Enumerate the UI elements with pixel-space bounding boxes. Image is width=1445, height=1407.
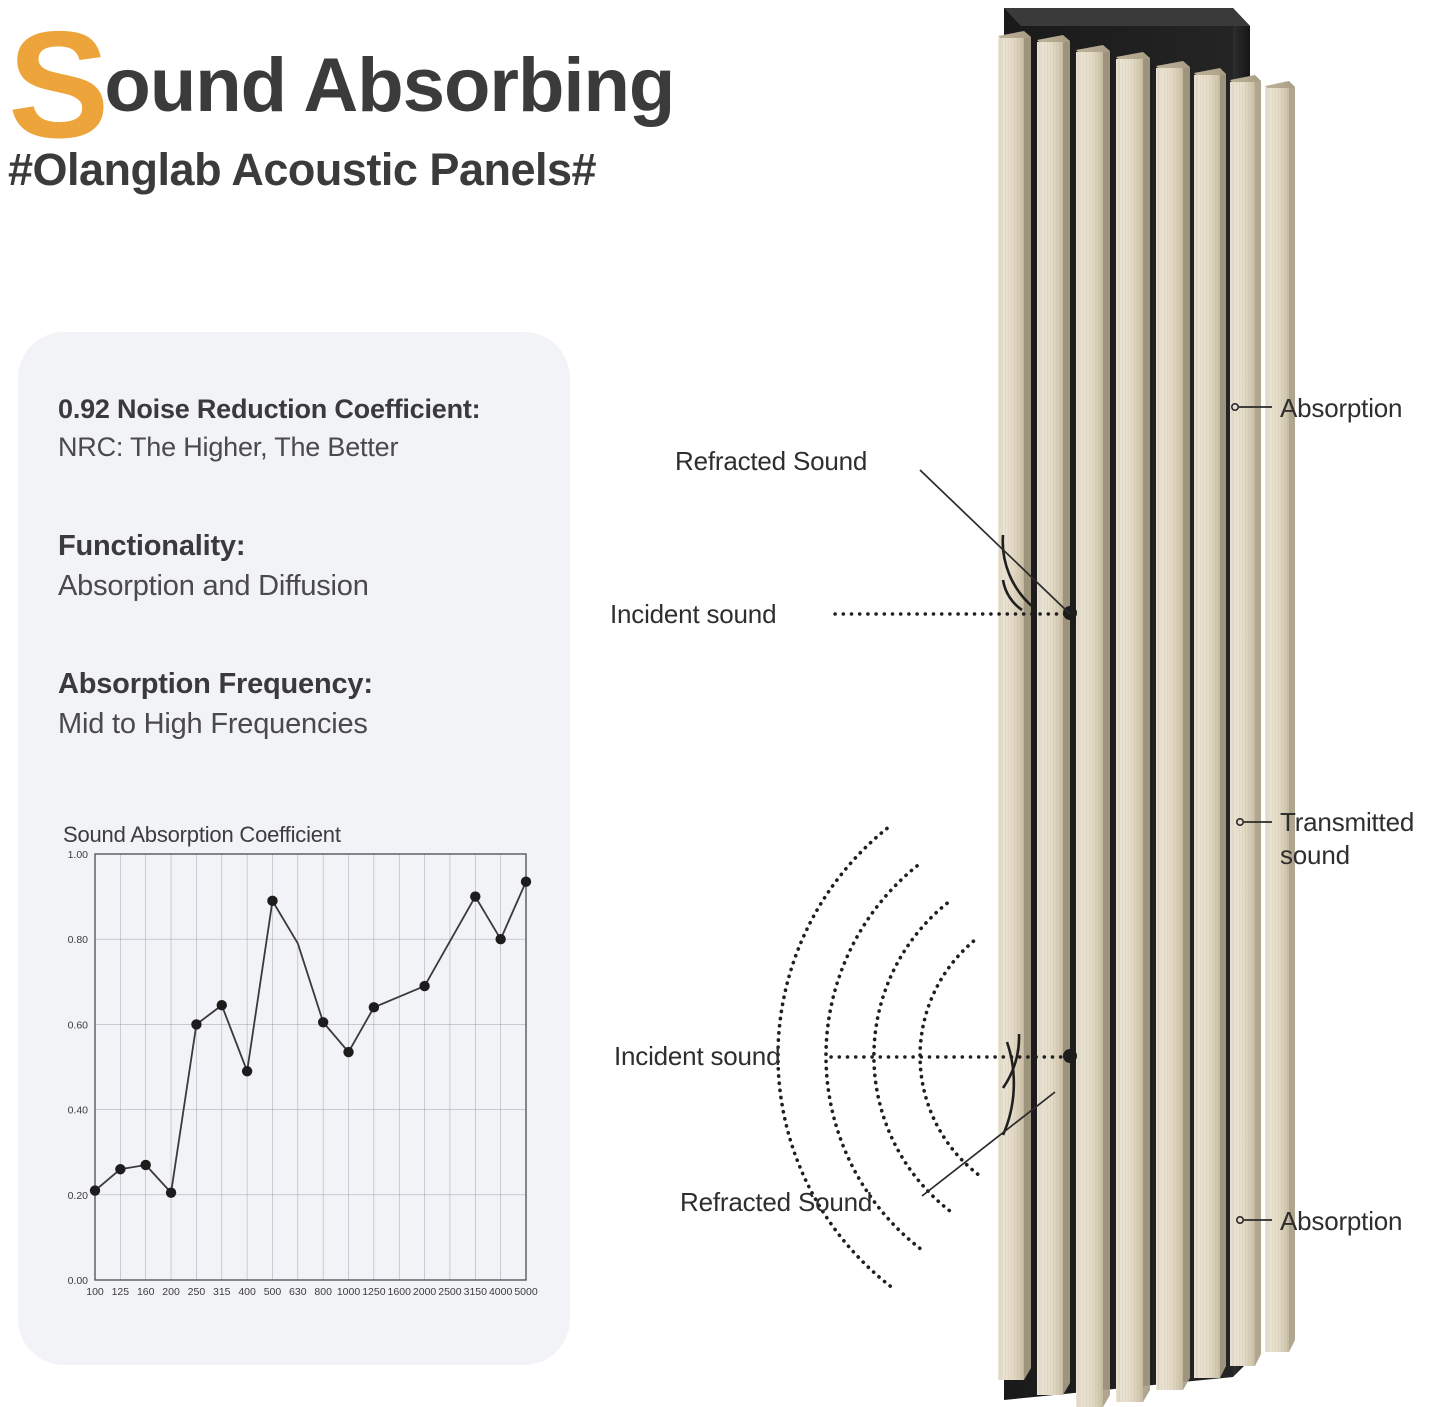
absorption-chart: Sound Absorption Coefficient 0.000.200.4… <box>44 822 554 1312</box>
spec-item-frequency: Absorption Frequency: Mid to High Freque… <box>58 668 558 741</box>
infographic-root: Sound Absorbing #Olanglab Acoustic Panel… <box>0 0 1445 1407</box>
svg-text:125: 125 <box>112 1286 130 1298</box>
label-incident-top: Incident sound <box>610 599 776 630</box>
chart-gridlines <box>95 854 526 1280</box>
svg-text:0.00: 0.00 <box>68 1275 89 1287</box>
label-transmitted: Transmitted sound <box>1280 806 1445 871</box>
svg-text:800: 800 <box>314 1286 332 1298</box>
label-refracted-top: Refracted Sound <box>675 446 867 477</box>
svg-text:100: 100 <box>86 1286 104 1298</box>
svg-text:1250: 1250 <box>362 1286 386 1298</box>
wood-slat-group <box>998 31 1295 1407</box>
title-drop-cap: S <box>8 0 108 170</box>
spec-title: Functionality: <box>58 530 558 563</box>
label-absorption-bottom: Absorption <box>1280 1206 1402 1237</box>
svg-text:200: 200 <box>162 1286 180 1298</box>
spec-value: Absorption and Diffusion <box>58 570 558 603</box>
svg-text:2000: 2000 <box>413 1286 437 1298</box>
svg-text:250: 250 <box>188 1286 206 1298</box>
acoustic-panel-diagram: Absorption Refracted Sound Incident soun… <box>600 0 1445 1407</box>
svg-text:500: 500 <box>264 1286 282 1298</box>
svg-text:0.20: 0.20 <box>68 1190 89 1202</box>
svg-text:1000: 1000 <box>337 1286 361 1298</box>
spec-title: 0.92 Noise Reduction Coefficient: <box>58 394 558 425</box>
chart-y-axis-labels: 0.000.200.400.600.801.00 <box>68 849 89 1287</box>
chart-plot: 0.000.200.400.600.801.00 100125160200250… <box>44 846 554 1306</box>
chart-x-axis-labels: 1001251602002503154005006308001000125016… <box>86 1286 538 1298</box>
chart-title: Sound Absorption Coefficient <box>63 822 341 848</box>
label-refracted-bottom: Refracted Sound <box>680 1187 872 1218</box>
svg-text:2500: 2500 <box>438 1286 462 1298</box>
svg-text:1.00: 1.00 <box>68 849 89 861</box>
spec-value: NRC: The Higher, The Better <box>58 432 558 463</box>
spec-value: Mid to High Frequencies <box>58 708 558 741</box>
title-rest: ound Absorbing <box>104 43 674 128</box>
svg-text:0.40: 0.40 <box>68 1105 89 1117</box>
chart-frame <box>95 854 526 1280</box>
chart-series-line <box>95 882 526 1193</box>
spec-item-functionality: Functionality: Absorption and Diffusion <box>58 530 558 603</box>
svg-text:315: 315 <box>213 1286 231 1298</box>
svg-text:3150: 3150 <box>464 1286 488 1298</box>
svg-text:160: 160 <box>137 1286 155 1298</box>
spec-title: Absorption Frequency: <box>58 668 558 701</box>
svg-text:0.60: 0.60 <box>68 1019 89 1031</box>
incident-point-bottom <box>1063 1049 1077 1063</box>
label-absorption-top: Absorption <box>1280 393 1402 424</box>
spec-card: 0.92 Noise Reduction Coefficient: NRC: T… <box>18 332 570 1365</box>
svg-text:1600: 1600 <box>388 1286 412 1298</box>
svg-text:630: 630 <box>289 1286 307 1298</box>
spec-item-nrc: 0.92 Noise Reduction Coefficient: NRC: T… <box>58 394 558 463</box>
chart-data-points <box>90 876 531 1197</box>
svg-text:400: 400 <box>238 1286 256 1298</box>
svg-text:5000: 5000 <box>514 1286 538 1298</box>
svg-text:0.80: 0.80 <box>68 934 89 946</box>
label-incident-bottom: Incident sound <box>614 1041 780 1072</box>
svg-text:4000: 4000 <box>489 1286 513 1298</box>
